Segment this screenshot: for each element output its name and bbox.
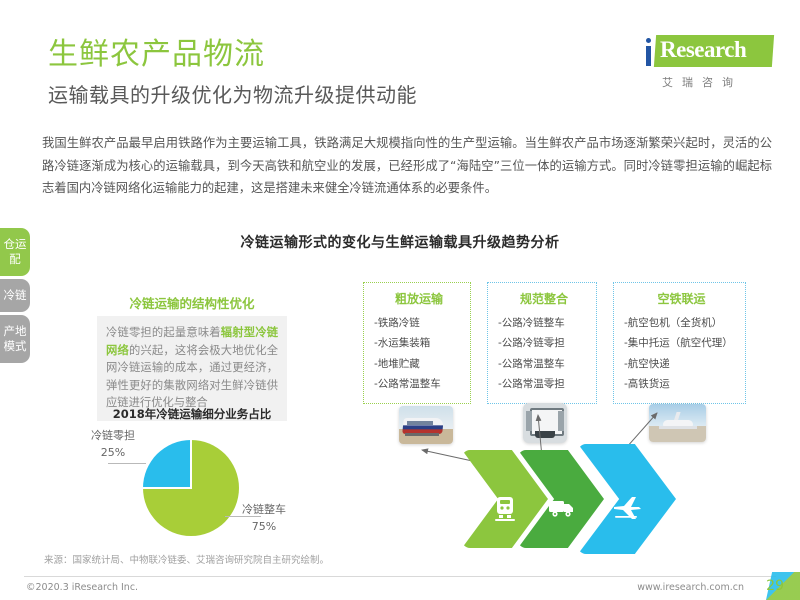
airplane-wing-shape: [659, 426, 697, 429]
sidebar-item-label: 冷链: [0, 288, 30, 303]
pie-label-value: 25%: [81, 445, 145, 462]
page-number: 29: [766, 578, 784, 594]
sidebar-item-label: 产地模式: [0, 324, 30, 354]
pie-chart-title: 2018年冷链运输细分业务占比: [92, 406, 292, 422]
stage-box-item: -公路常温零担: [498, 374, 590, 394]
truck-door-left-shape: [526, 411, 532, 431]
intro-paragraph: 我国生鲜农产品最早启用铁路作为主要运输工具，铁路满足大规模指向性的生产型运输。当…: [42, 132, 772, 200]
truck-photo: [523, 403, 567, 443]
pie-chart: 冷链零担 25% 冷链整车 75%: [143, 440, 239, 536]
sidebar-item-chandimoshi[interactable]: 产地模式: [0, 315, 30, 363]
page-title: 生鲜农产品物流: [48, 40, 265, 70]
stage-box-item: -公路常温整车: [498, 354, 590, 374]
stage-box-item: -航空包机（全货机）: [624, 313, 739, 333]
stage-box-item: -地堆贮藏: [374, 354, 464, 374]
train-photo: [399, 406, 453, 444]
stage-box-title: 规范整合: [498, 290, 590, 307]
logo-i-stem-icon: [646, 46, 651, 66]
truck-door-right-shape: [558, 411, 564, 431]
left-panel-body: 冷链零担的起量意味着辐射型冷链网络的兴起，这将会极大地优化全网冷链运输的成本，通…: [97, 316, 287, 421]
left-panel-title: 冷链运输的结构性优化: [92, 293, 292, 312]
stage-box-item: -航空快递: [624, 354, 739, 374]
source-note: 来源：国家统计局、中物联冷链委、艾瑞咨询研究院自主研究绘制。: [44, 552, 329, 566]
stage-box-item: -公路冷链整车: [498, 313, 590, 333]
airplane-photo: [649, 404, 706, 442]
stage-box-item: -铁路冷链: [374, 313, 464, 333]
pie-label-value: 75%: [231, 519, 297, 536]
stage-box-title: 粗放运输: [374, 290, 464, 307]
logo-wordmark: Research: [638, 34, 778, 68]
stage-box-kongtie: 空铁联运 -航空包机（全货机） -集中托运（航空代理） -航空快递 -高铁货运: [613, 282, 746, 404]
pie-leader-line: [108, 463, 146, 464]
pie-slice-divider: [190, 440, 192, 489]
pie-slice-divider: [143, 487, 192, 489]
train-window-shape: [407, 421, 433, 425]
pie-label-zhengche: 冷链整车 75%: [231, 502, 297, 535]
stage-box-cufang: 粗放运输 -铁路冷链 -水运集装箱 -地堆贮藏 -公路常温整车: [363, 282, 471, 404]
train-icon: [494, 496, 516, 527]
stage-box-title: 空铁联运: [624, 290, 739, 307]
logo-word-text: Research: [660, 37, 778, 63]
truck-ramp-shape: [535, 431, 555, 438]
footer-website[interactable]: www.iresearch.com.cn: [637, 582, 744, 593]
page-subtitle: 运输载具的升级优化为物流升级提供动能: [48, 85, 417, 105]
iresearch-logo: Research 艾瑞咨询: [638, 34, 778, 96]
stage-box-item: -公路常温整车: [374, 374, 464, 394]
logo-chinese-name: 艾瑞咨询: [662, 74, 742, 90]
pie-label-lingdan: 冷链零担 25%: [81, 428, 145, 461]
footer-copyright: ©2020.3 iResearch Inc.: [26, 582, 138, 593]
left-panel-text-post: 的兴起，这将会极大地优化全网冷链运输的成本，通过更经济，弹性更好的集散网络对生鲜…: [106, 344, 278, 410]
airplane-icon: [612, 496, 642, 525]
logo-i-dot-icon: [646, 38, 651, 43]
stage-box-item: -公路冷链零担: [498, 333, 590, 353]
chevron-air-stage: [578, 444, 676, 554]
stage-box-item: -水运集装箱: [374, 333, 464, 353]
pie-label-name: 冷链零担: [81, 428, 145, 445]
train-rail-shape: [405, 433, 439, 436]
left-panel-text-pre: 冷链零担的起量意味着: [106, 326, 221, 339]
stage-box-item: -高铁货运: [624, 374, 739, 394]
section-title: 冷链运输形式的变化与生鲜运输载具升级趋势分析: [0, 232, 800, 252]
truck-icon: [548, 498, 576, 522]
stage-box-guifan: 规范整合 -公路冷链整车 -公路冷链零担 -公路常温整车 -公路常温零担: [487, 282, 597, 404]
pie-label-name: 冷链整车: [231, 502, 297, 519]
stage-box-item: -集中托运（航空代理）: [624, 333, 739, 353]
footer-divider: [24, 576, 776, 577]
sidebar-item-lenglian[interactable]: 冷链: [0, 279, 30, 312]
